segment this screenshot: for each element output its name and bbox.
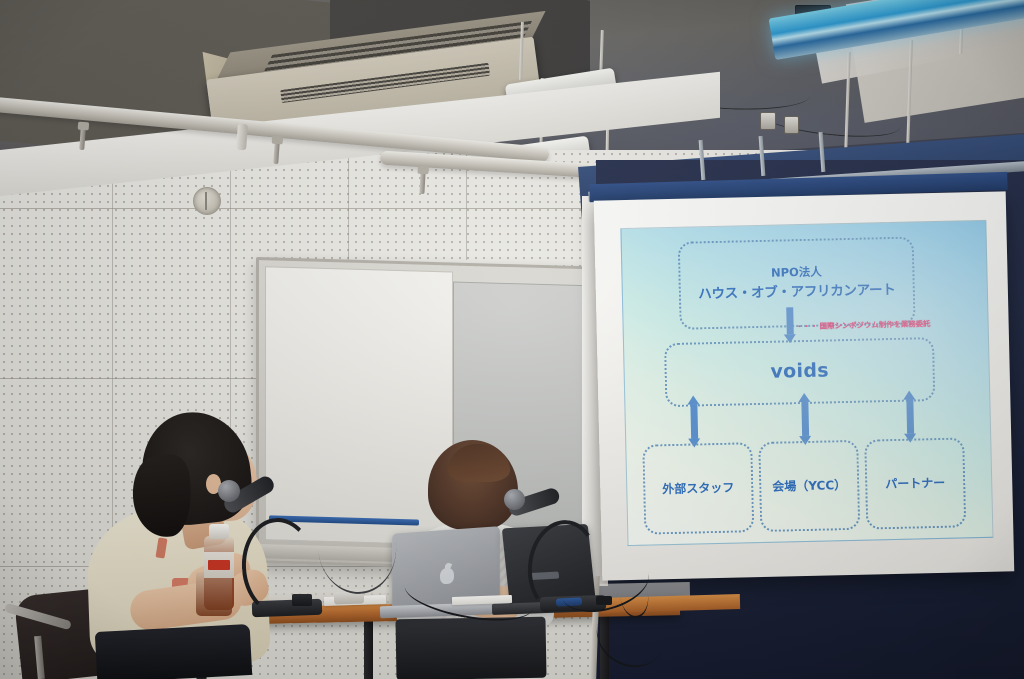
microphone-right-head-icon [504, 489, 525, 510]
desk-remote[interactable] [292, 594, 312, 606]
arrow-up-down-icon-1 [687, 395, 701, 447]
diagram-box-venue: 会場（YCC） [758, 440, 860, 532]
wall-vent-cap [193, 187, 221, 215]
junction-box-2 [784, 116, 799, 134]
table-leg-2 [364, 614, 373, 679]
npo-line-1: NPO法人 [698, 263, 896, 283]
wall-vseam-3 [348, 150, 349, 260]
tea-bottle-label [204, 552, 234, 578]
arrow-head-up [798, 393, 810, 402]
diagram-box-external-staff: 外部スタッフ [642, 442, 754, 534]
arrow-shaft [801, 402, 809, 436]
npo-line-2: ハウス・オブ・アフリカンアート [698, 281, 896, 304]
speaker-left-lap [95, 624, 252, 679]
projected-slide: NPO法人 ハウス・オブ・アフリカンアート ・・・ 国際シンポジウム制作を業務委… [620, 220, 993, 546]
wall-vseam-1 [112, 150, 113, 570]
annotation-text: 国際シンポジウム制作を業務委託 [820, 318, 931, 332]
arrow-head-up [903, 390, 915, 399]
diagram-box-npo: NPO法人 ハウス・オブ・アフリカンアート [678, 236, 916, 329]
projection-screen: NPO法人 ハウス・オブ・アフリカンアート ・・・ 国際シンポジウム制作を業務委… [594, 191, 1015, 580]
arrow-head-up [687, 395, 699, 404]
arrow-shaft [690, 404, 698, 438]
partner-label: パートナー [885, 475, 945, 493]
drinking-glass[interactable] [196, 572, 232, 616]
annotation-dots: ・・・ [796, 321, 818, 333]
external-staff-label: 外部スタッフ [662, 480, 734, 498]
arrow-shaft [786, 307, 794, 334]
speaker-right-lap [395, 617, 546, 679]
diagram-box-partner: パートナー [864, 437, 966, 529]
photo-scene: NPO法人 ハウス・オブ・アフリカンアート ・・・ 国際シンポジウム制作を業務委… [0, 0, 1024, 679]
junction-box-1 [760, 112, 776, 130]
voids-label: voids [770, 359, 829, 386]
arrow-up-down-icon-2 [798, 393, 812, 445]
conduit-stub [236, 124, 248, 151]
microphone-left-head-icon [218, 480, 240, 502]
arrow-up-down-icon-3 [903, 390, 917, 442]
arrow-shaft [906, 400, 914, 434]
venue-label: 会場（YCC） [772, 477, 846, 495]
tea-bottle-cap[interactable] [209, 524, 229, 539]
